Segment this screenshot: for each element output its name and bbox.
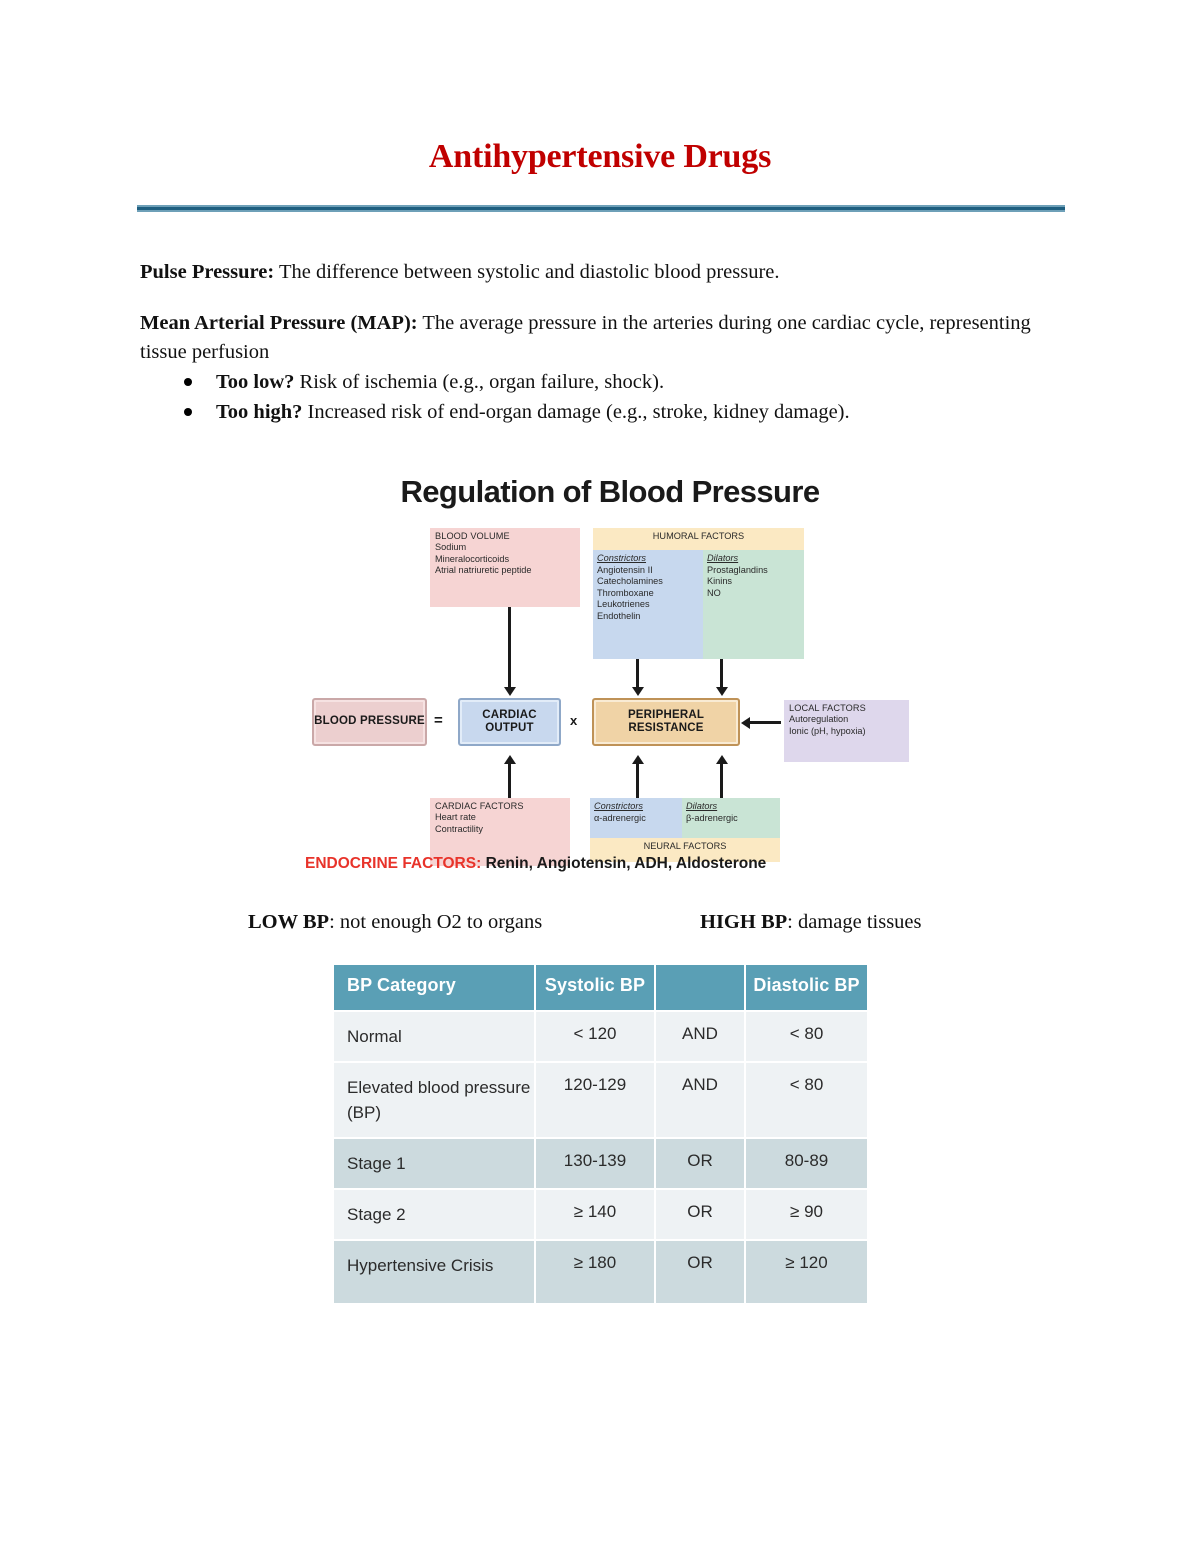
humoral-dilators-column: Dilators Prostaglandins Kinins NO [703,550,804,659]
endocrine-factors-value: Renin, Angiotensin, ADH, Aldosterone [481,855,766,872]
cell-diastolic: < 80 [746,1063,867,1137]
humoral-dilator-item: NO [707,588,800,600]
cardiac-factors-line: Contractility [435,824,565,835]
paragraph-map: Mean Arterial Pressure (MAP): The averag… [140,309,1070,367]
low-bp-text: : not enough O2 to organs [329,911,542,933]
humoral-dilators-label: Dilators [707,553,800,565]
list-item: Too low? Risk of ischemia (e.g., organ f… [184,367,1070,397]
cell-category: Stage 2 [334,1190,534,1239]
high-bp-note: HIGH BP: damage tissues [700,911,922,934]
arrow-blood-volume-to-cardiac-output [508,607,511,689]
bullet-lead: Too high? [216,401,302,423]
paragraph-pulse-pressure: Pulse Pressure: The difference between s… [140,258,1070,287]
diagram-title: Regulation of Blood Pressure [300,474,920,510]
neural-constrictors-value: α-adrenergic [594,813,678,825]
arrow-head-icon [504,755,516,764]
blood-pressure-regulation-diagram: Regulation of Blood Pressure BLOOD VOLUM… [300,472,920,892]
cell-diastolic: ≥ 120 [746,1241,867,1303]
bullet-text: Risk of ischemia (e.g., organ failure, s… [294,371,664,393]
high-bp-text: : damage tissues [787,911,921,933]
cell-operator: AND [656,1012,744,1061]
humoral-dilator-item: Prostaglandins [707,565,800,577]
bullet-icon [184,408,192,416]
arrow-head-icon [716,687,728,696]
neural-factors-header: NEURAL FACTORS [590,841,780,852]
diagram-box-neural-factors: Constrictors α-adrenergic Dilators β-adr… [590,798,780,862]
diagram-box-local-factors: LOCAL FACTORS Autoregulation Ionic (pH, … [784,700,909,762]
arrow-humoral-dilators-to-resistance [720,659,723,689]
list-item: Too high? Increased risk of end-organ da… [184,397,1070,427]
neural-dilators-value: β-adrenergic [686,813,776,825]
neural-dilators-column: Dilators β-adrenergic [682,798,780,838]
operator-equals: = [434,712,443,729]
table-row: Elevated blood pressure (BP) 120-129 AND… [334,1063,867,1137]
blood-volume-line: Atrial natriuretic peptide [435,565,575,576]
neural-constrictors-label: Constrictors [594,801,678,813]
table-row: Stage 1 130-139 OR 80-89 [334,1139,867,1188]
blood-volume-line: Sodium [435,542,575,553]
arrow-head-icon [504,687,516,696]
humoral-constrictors-label: Constrictors [597,553,699,565]
diagram-box-blood-pressure: BLOOD PRESSURE [312,698,427,746]
arrow-head-icon [632,755,644,764]
column-header-bp-category: BP Category [334,965,534,1010]
cardiac-factors-header: CARDIAC FACTORS [435,801,565,812]
bullet-icon [184,378,192,386]
humoral-constrictor-item: Thromboxane [597,588,699,600]
arrow-head-icon [632,687,644,696]
diagram-box-blood-volume: BLOOD VOLUME Sodium Mineralocorticoids A… [430,528,580,607]
endocrine-factors-label: ENDOCRINE FACTORS: [305,855,481,872]
local-factors-line: Autoregulation [789,714,904,725]
arrow-humoral-constrictors-to-resistance [636,659,639,689]
cell-diastolic: 80-89 [746,1139,867,1188]
blood-volume-line: Mineralocorticoids [435,554,575,565]
cell-category: Stage 1 [334,1139,534,1188]
arrow-neural-constrictors-to-resistance [636,764,639,798]
humoral-constrictor-item: Leukotrienes [597,599,699,611]
arrow-local-factors-to-resistance [749,721,781,724]
cell-systolic: 120-129 [536,1063,654,1137]
humoral-constrictor-item: Endothelin [597,611,699,623]
bullet-lead: Too low? [216,371,294,393]
table-row: Hypertensive Crisis ≥ 180 OR ≥ 120 [334,1241,867,1303]
arrow-cardiac-factors-to-cardiac-output [508,764,511,798]
column-header-operator [656,965,744,1010]
bullet-text: Increased risk of end-organ damage (e.g.… [302,401,849,423]
cell-operator: OR [656,1139,744,1188]
cell-diastolic: < 80 [746,1012,867,1061]
endocrine-factors-line: ENDOCRINE FACTORS: Renin, Angiotensin, A… [305,855,925,873]
arrow-head-icon [716,755,728,764]
humoral-constrictors-column: Constrictors Angiotensin II Catecholamin… [593,550,703,659]
bp-classification-table: BP Category Systolic BP Diastolic BP Nor… [332,963,869,1305]
body-content: Pulse Pressure: The difference between s… [140,258,1070,427]
table-row: Normal < 120 AND < 80 [334,1012,867,1061]
arrow-neural-dilators-to-resistance [720,764,723,798]
cell-operator: OR [656,1241,744,1303]
pulse-pressure-label: Pulse Pressure: [140,261,274,283]
arrow-head-icon [741,717,750,729]
title-divider [137,205,1065,212]
cell-diastolic: ≥ 90 [746,1190,867,1239]
table-row: Stage 2 ≥ 140 OR ≥ 90 [334,1190,867,1239]
high-bp-label: HIGH BP [700,911,787,933]
column-header-systolic-bp: Systolic BP [536,965,654,1010]
map-label: Mean Arterial Pressure (MAP): [140,312,418,334]
cell-category: Elevated blood pressure (BP) [334,1063,534,1137]
pulse-pressure-text: The difference between systolic and dias… [274,261,779,283]
humoral-constrictor-item: Catecholamines [597,576,699,588]
humoral-constrictor-item: Angiotensin II [597,565,699,577]
cell-category: Normal [334,1012,534,1061]
humoral-factors-header: HUMORAL FACTORS [593,531,804,542]
neural-constrictors-column: Constrictors α-adrenergic [590,798,682,838]
map-bullet-list: Too low? Risk of ischemia (e.g., organ f… [140,367,1070,427]
cell-systolic: ≥ 140 [536,1190,654,1239]
cell-systolic: 130-139 [536,1139,654,1188]
low-bp-note: LOW BP: not enough O2 to organs [248,911,542,934]
cell-operator: OR [656,1190,744,1239]
table-header-row: BP Category Systolic BP Diastolic BP [334,965,867,1010]
cell-category: Hypertensive Crisis [334,1241,534,1303]
local-factors-header: LOCAL FACTORS [789,703,904,714]
cell-systolic: ≥ 180 [536,1241,654,1303]
diagram-box-humoral-factors: HUMORAL FACTORS Constrictors Angiotensin… [593,528,804,659]
local-factors-line: Ionic (pH, hypoxia) [789,726,904,737]
diagram-box-peripheral-resistance: PERIPHERAL RESISTANCE [592,698,740,746]
neural-dilators-label: Dilators [686,801,776,813]
cardiac-factors-line: Heart rate [435,812,565,823]
document-page: Antihypertensive Drugs Pulse Pressure: T… [0,0,1200,1553]
operator-multiply: x [570,713,577,728]
page-title: Antihypertensive Drugs [0,138,1200,176]
humoral-dilator-item: Kinins [707,576,800,588]
cell-systolic: < 120 [536,1012,654,1061]
blood-volume-header: BLOOD VOLUME [435,531,575,542]
cell-operator: AND [656,1063,744,1137]
diagram-box-cardiac-output: CARDIAC OUTPUT [458,698,561,746]
column-header-diastolic-bp: Diastolic BP [746,965,867,1010]
low-bp-label: LOW BP [248,911,329,933]
